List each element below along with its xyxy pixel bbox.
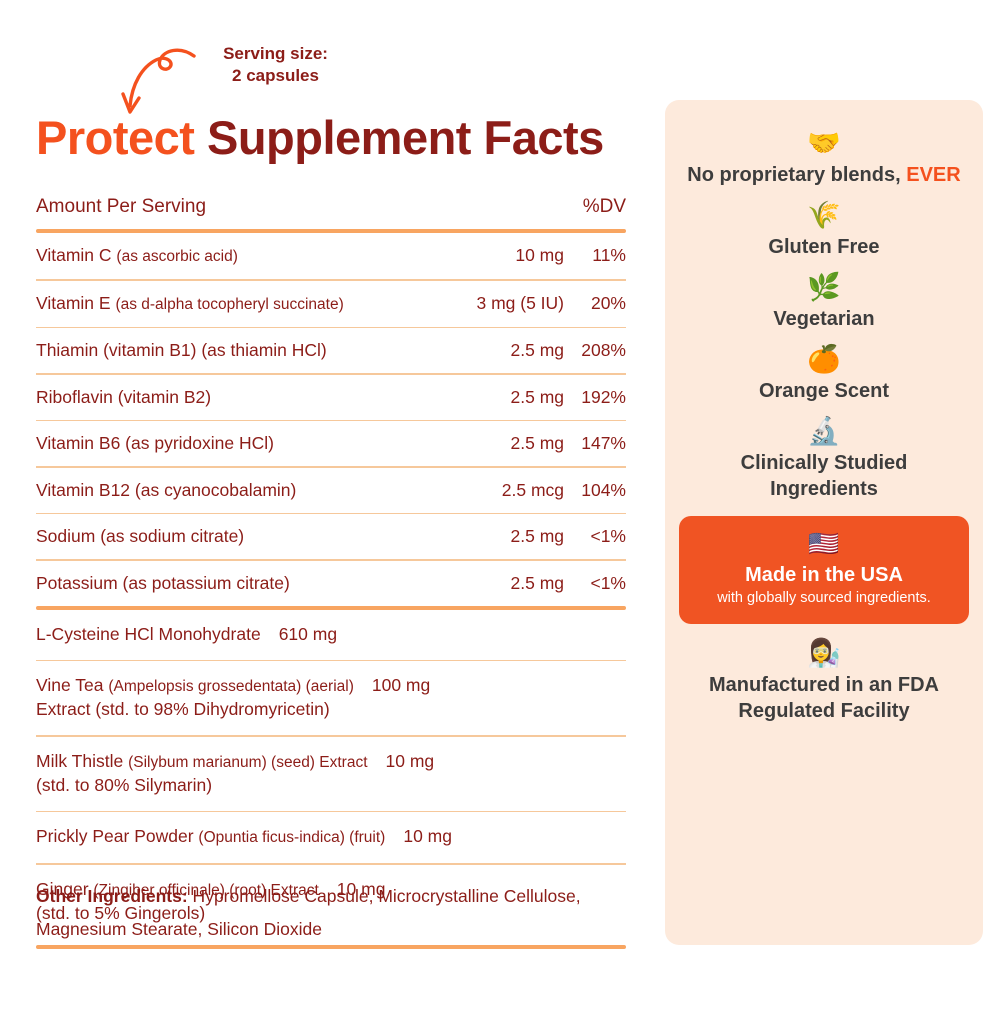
made-in-usa-subtitle: with globally sourced ingredients. (689, 588, 959, 608)
table-row: Vitamin C (as ascorbic acid) 10 mg 11% (36, 233, 626, 279)
table-row: Thiamin (vitamin B1) (as thiamin HCl) 2.… (36, 328, 626, 373)
table-row: Vine Tea (Ampelopsis grossedentata) (aer… (36, 661, 626, 735)
badge-label: Vegetarian (687, 306, 961, 332)
table-header-row: Amount Per Serving %DV (36, 186, 626, 229)
nutrient-amount: 2.5 mg (452, 572, 564, 595)
badge-label: No proprietary blends, EVER (687, 162, 961, 188)
nutrition-table: Amount Per Serving %DV Vitamin C (as asc… (36, 186, 626, 949)
wheat-icon: 🌾 (687, 198, 961, 232)
nutrient-amount: 10 mg (452, 244, 564, 267)
table-row: Riboflavin (vitamin B2) 2.5 mg 192% (36, 375, 626, 420)
nutrient-dv: 104% (564, 479, 626, 502)
badge-vegetarian: 🌿 Vegetarian (683, 264, 965, 336)
orange-fruit-icon: 🍊 (687, 342, 961, 376)
nutrient-name: Vitamin C (as ascorbic acid) (36, 244, 452, 268)
table-row: L-Cysteine HCl Monohydrate 610 mg (36, 610, 626, 660)
table-row: Vitamin B12 (as cyanocobalamin) 2.5 mcg … (36, 468, 626, 513)
table-row: Vitamin B6 (as pyridoxine HCl) 2.5 mg 14… (36, 421, 626, 466)
nutrient-dv: 11% (564, 244, 626, 267)
nutrient-amount: 2.5 mg (452, 525, 564, 548)
title-rest: Supplement Facts (194, 111, 603, 164)
percent-dv-label: %DV (564, 195, 626, 218)
nutrient-amount: 100 mg (362, 674, 454, 697)
other-ingredients-label: Other Ingredients: (36, 886, 188, 906)
page-title: Protect Supplement Facts (36, 110, 604, 165)
serving-size-text: Serving size: 2 capsules (198, 43, 353, 87)
nutrient-amount: 2.5 mcg (452, 479, 564, 502)
supplement-facts-page: Serving size: 2 capsules Protect Supplem… (0, 0, 1000, 1021)
nutrient-name: Vitamin B6 (as pyridoxine HCl) (36, 432, 452, 455)
serving-size-callout: Serving size: 2 capsules (120, 40, 350, 120)
nutrient-amount: 610 mg (269, 623, 361, 646)
made-in-usa-title: Made in the USA (689, 562, 959, 588)
nutrient-dv: 208% (564, 339, 626, 362)
nutrient-amount: 2.5 mg (452, 339, 564, 362)
title-brand: Protect (36, 111, 194, 164)
other-ingredients: Other Ingredients: Hypromellose Capsule,… (36, 880, 636, 946)
nutrient-dv: 192% (564, 386, 626, 409)
product-badges-panel: 🤝 No proprietary blends, EVER 🌾 Gluten F… (665, 100, 983, 945)
nutrient-name: Potassium (as potassium citrate) (36, 572, 452, 595)
nutrient-amount: 2.5 mg (452, 432, 564, 455)
microscope-icon: 🔬 (687, 414, 961, 448)
nutrient-amount: 3 mg (5 IU) (452, 292, 564, 315)
herb-icon: 🌿 (687, 270, 961, 304)
nutrient-name: Riboflavin (vitamin B2) (36, 386, 452, 409)
nutrient-amount: 10 mg (376, 750, 468, 773)
table-row: Sodium (as sodium citrate) 2.5 mg <1% (36, 514, 626, 559)
nutrient-amount: 2.5 mg (452, 386, 564, 409)
serving-size-line1: Serving size: (223, 44, 328, 63)
nutrient-name: Thiamin (vitamin B1) (as thiamin HCl) (36, 339, 452, 362)
badge-made-in-usa: 🇺🇸 Made in the USA with globally sourced… (679, 516, 969, 624)
badge-label: Gluten Free (687, 234, 961, 260)
table-row: Prickly Pear Powder (Opuntia ficus-indic… (36, 812, 626, 863)
table-row: Milk Thistle (Silybum marianum) (seed) E… (36, 737, 626, 811)
serving-size-line2: 2 capsules (232, 66, 319, 85)
amount-per-serving-label: Amount Per Serving (36, 195, 564, 218)
badge-label: Manufactured in an FDA Regulated Facilit… (687, 672, 961, 724)
usa-flag-icon: 🇺🇸 (689, 528, 959, 560)
nutrient-dv: <1% (564, 572, 626, 595)
badge-fda-facility: 👩‍🔬 Manufactured in an FDA Regulated Fac… (683, 630, 965, 728)
badge-clinically-studied: 🔬 Clinically Studied Ingredients (683, 408, 965, 506)
supplement-facts-panel: Serving size: 2 capsules Protect Supplem… (0, 0, 660, 1021)
nutrient-name: Milk Thistle (Silybum marianum) (seed) E… (36, 750, 376, 797)
badge-no-proprietary-blends: 🤝 No proprietary blends, EVER (683, 120, 965, 192)
scientist-icon: 👩‍🔬 (687, 636, 961, 670)
table-row: Potassium (as potassium citrate) 2.5 mg … (36, 561, 626, 606)
badge-label: Orange Scent (687, 378, 961, 404)
nutrient-dv: 147% (564, 432, 626, 455)
badge-label: Clinically Studied Ingredients (687, 450, 961, 502)
badge-orange-scent: 🍊 Orange Scent (683, 336, 965, 408)
nutrient-name: Prickly Pear Powder (Opuntia ficus-indic… (36, 825, 393, 849)
nutrient-name: Vitamin E (as d-alpha tocopheryl succina… (36, 292, 452, 316)
nutrient-name: Vitamin B12 (as cyanocobalamin) (36, 479, 452, 502)
nutrient-amount: 10 mg (393, 825, 485, 848)
handshake-icon: 🤝 (687, 126, 961, 160)
nutrient-name: Sodium (as sodium citrate) (36, 525, 452, 548)
nutrient-dv: <1% (564, 525, 626, 548)
nutrient-dv: 20% (564, 292, 626, 315)
table-row: Vitamin E (as d-alpha tocopheryl succina… (36, 281, 626, 327)
badge-gluten-free: 🌾 Gluten Free (683, 192, 965, 264)
nutrient-name: L-Cysteine HCl Monohydrate (36, 623, 269, 646)
nutrient-name: Vine Tea (Ampelopsis grossedentata) (aer… (36, 674, 362, 721)
